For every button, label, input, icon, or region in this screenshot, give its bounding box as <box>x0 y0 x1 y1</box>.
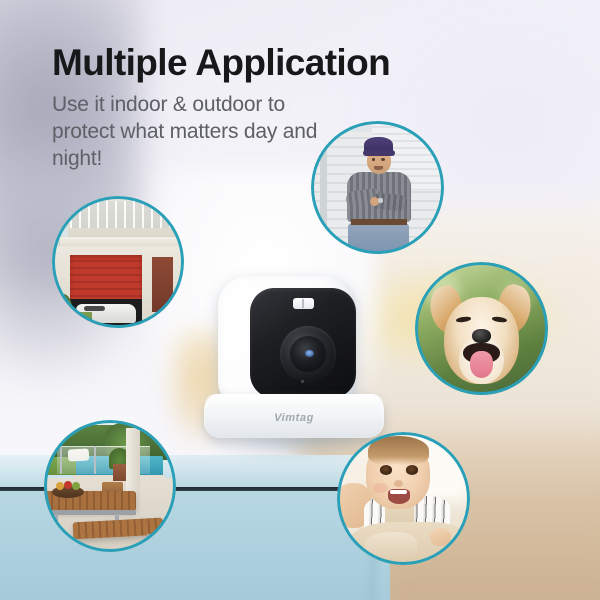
patio-fruit-3 <box>72 482 80 490</box>
man-belt <box>351 219 407 224</box>
baby-hair <box>368 436 429 465</box>
bubble-garage <box>52 196 184 328</box>
patio-table-leg-1 <box>55 514 58 535</box>
promo-image: Multiple Application Use it indoor & out… <box>0 0 600 600</box>
photo-patio <box>44 420 176 552</box>
patio-rail-post-2 <box>94 446 96 474</box>
garage-bush <box>55 294 72 323</box>
garage-railing <box>70 201 184 227</box>
status-led-icon <box>293 298 314 309</box>
patio-table-edge <box>44 510 136 515</box>
man-mouth <box>374 166 383 169</box>
dog-tongue <box>470 351 494 378</box>
camera-body <box>218 276 356 411</box>
photo-garage <box>52 196 184 328</box>
patio-rail-post-1 <box>60 446 62 474</box>
man-door-frame <box>320 121 327 254</box>
baby-blanket-fold <box>364 532 417 559</box>
bubble-dog <box>415 262 548 395</box>
photo-dog <box>415 262 548 395</box>
camera-lens <box>280 326 336 382</box>
baby-nose <box>394 480 403 487</box>
baby-cheek <box>373 483 388 494</box>
brand-logo: Vimtag <box>204 412 384 424</box>
camera-base-highlight <box>204 394 384 406</box>
microphone-icon <box>301 380 304 383</box>
photo-man <box>311 121 444 254</box>
patio-bench-leg <box>147 534 150 552</box>
patio-fruit-2 <box>64 481 72 489</box>
photo-baby <box>337 432 470 565</box>
patio-fruit-1 <box>56 482 64 490</box>
bubble-patio <box>44 420 176 552</box>
bubble-man <box>311 121 444 254</box>
page-subtitle: Use it indoor & outdoor to protect what … <box>52 92 352 173</box>
bubble-baby <box>337 432 470 565</box>
baby-hand <box>430 528 451 547</box>
garage-car-window <box>84 306 105 311</box>
man-beanie-brim <box>363 150 395 155</box>
baby-eye-left <box>380 465 392 474</box>
security-camera: Vimtag <box>204 276 384 444</box>
garage-side-door <box>152 257 173 312</box>
man-wristwatch <box>378 198 383 203</box>
man-jeans <box>348 223 409 254</box>
patio-planter <box>113 464 126 481</box>
baby-eye-right <box>406 465 418 474</box>
lens-glint <box>305 350 314 357</box>
page-title: Multiple Application <box>52 44 390 81</box>
camera-lens-inner <box>290 336 326 372</box>
baby-teeth <box>390 490 407 494</box>
garage-door <box>70 255 141 301</box>
dog-nose <box>472 329 491 344</box>
